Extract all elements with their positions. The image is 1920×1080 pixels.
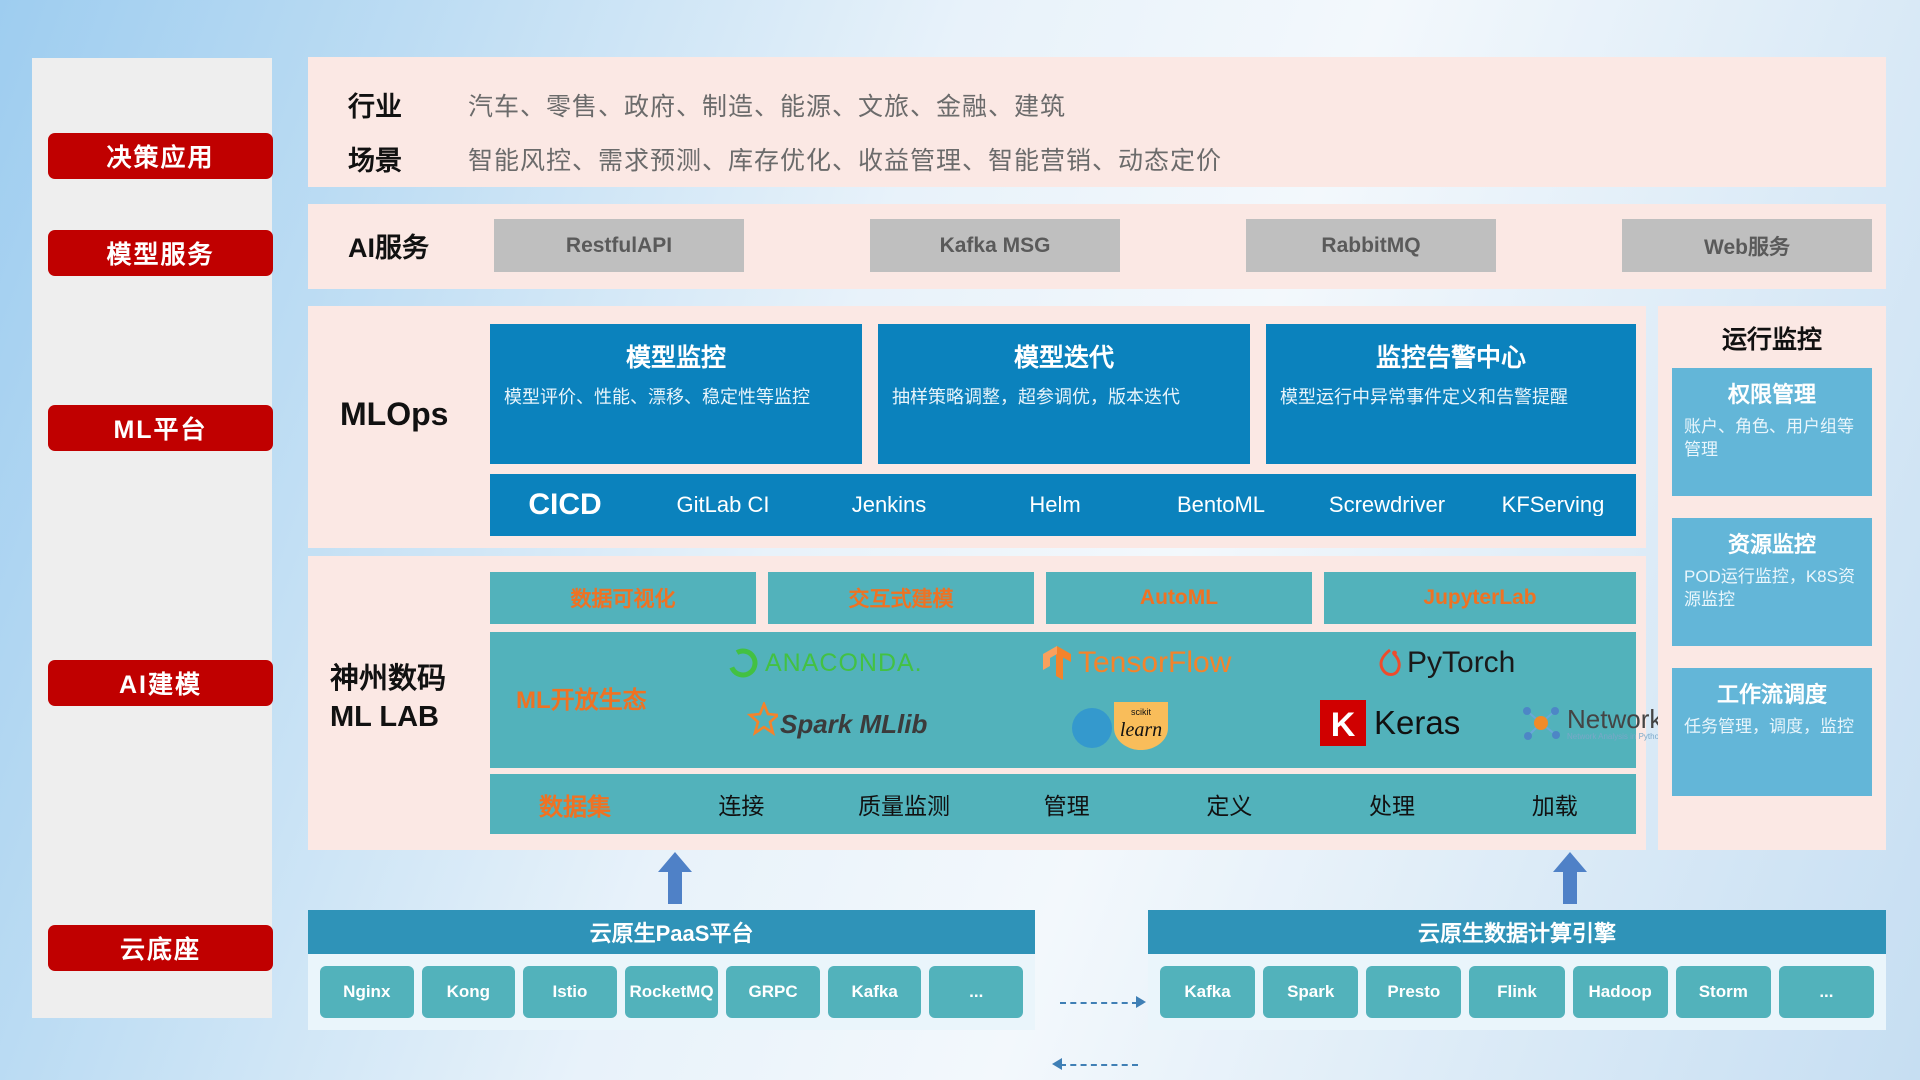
- paas-platform-title: 云原生PaaS平台: [308, 910, 1035, 954]
- spark-mllib-logo: Spark MLlib: [738, 702, 927, 746]
- dataset-item-quality[interactable]: 质量监测: [823, 787, 986, 821]
- layer-pill-ml-platform[interactable]: ML平台: [48, 405, 273, 451]
- layer-pill-model-service[interactable]: 模型服务: [48, 230, 273, 276]
- up-arrow-left-icon: [658, 852, 692, 904]
- ml-lab-tab-interactive[interactable]: 交互式建模: [768, 572, 1034, 624]
- monitor-card-workflow[interactable]: 工作流调度 任务管理，调度，监控: [1672, 668, 1872, 796]
- engine-chip-spark[interactable]: Spark: [1263, 966, 1358, 1018]
- dataset-item-manage[interactable]: 管理: [985, 787, 1148, 821]
- scenario-values: 智能风控、需求预测、库存优化、收益管理、智能营销、动态定价: [468, 141, 1222, 177]
- engine-chip-presto[interactable]: Presto: [1366, 966, 1461, 1018]
- industry-label: 行业: [348, 85, 402, 124]
- dataset-item-load[interactable]: 加载: [1473, 787, 1636, 821]
- mlops-label: MLOps: [340, 396, 448, 433]
- architecture-diagram: 决策应用 模型服务 ML平台 AI建模 云底座 行业 汽车、零售、政府、制造、能…: [0, 0, 1920, 1080]
- up-arrow-right-icon: [1553, 852, 1587, 904]
- monitor-card-desc: 任务管理，调度，监控: [1684, 716, 1860, 739]
- scenario-label: 场景: [348, 139, 402, 178]
- paas-chip-more[interactable]: ...: [929, 966, 1023, 1018]
- paas-chip-rocketmq[interactable]: RocketMQ: [625, 966, 719, 1018]
- cloud-foundation-area: 云原生PaaS平台 Nginx Kong Istio RocketMQ GRPC…: [308, 884, 1886, 1034]
- layer-pill-decision[interactable]: 决策应用: [48, 133, 273, 179]
- tensorflow-logo: TensorFlow: [1040, 644, 1231, 682]
- anaconda-icon: [726, 646, 760, 680]
- keras-label: Keras: [1374, 704, 1460, 742]
- mlops-card-model-monitoring[interactable]: 模型监控 模型评价、性能、漂移、稳定性等监控: [490, 324, 862, 464]
- ml-ecosystem-title: ML开放生态: [516, 680, 647, 715]
- ml-lab-tab-automl[interactable]: AutoML: [1046, 572, 1312, 624]
- mlops-card-desc: 模型评价、性能、漂移、稳定性等监控: [504, 386, 848, 410]
- cicd-item-bentoml[interactable]: BentoML: [1138, 494, 1304, 516]
- mlops-card-title: 模型迭代: [892, 338, 1236, 374]
- connector-right-arrow-icon: [1136, 996, 1146, 1008]
- industry-scenario-panel: 行业 汽车、零售、政府、制造、能源、文旅、金融、建筑 场景 智能风控、需求预测、…: [308, 57, 1886, 187]
- mlops-card-alert-center[interactable]: 监控告警中心 模型运行中异常事件定义和告警提醒: [1266, 324, 1636, 464]
- dataset-label: 数据集: [490, 787, 660, 822]
- ml-lab-label-line1: 神州数码: [330, 663, 446, 695]
- pytorch-icon: [1376, 647, 1404, 679]
- cicd-label: CICD: [490, 488, 640, 522]
- ml-lab-label-line2: ML LAB: [330, 701, 439, 733]
- layer-rail: [32, 58, 272, 1018]
- connector-left-arrow-icon: [1052, 1058, 1062, 1070]
- cicd-row: CICD GitLab CI Jenkins Helm BentoML Scre…: [490, 474, 1636, 536]
- paas-platform-box: 云原生PaaS平台 Nginx Kong Istio RocketMQ GRPC…: [308, 910, 1035, 1030]
- spark-mllib-label: Spark MLlib: [780, 709, 927, 740]
- scikit-learn-logo: scikit learn: [1070, 698, 1180, 750]
- layer-pill-cloud-base[interactable]: 云底座: [48, 925, 273, 971]
- mlops-panel: MLOps 模型监控 模型评价、性能、漂移、稳定性等监控 模型迭代 抽样策略调整…: [308, 306, 1646, 548]
- ai-service-chip-restfulapi[interactable]: RestfulAPI: [494, 219, 744, 272]
- data-engine-chip-list: Kafka Spark Presto Flink Hadoop Storm ..…: [1148, 954, 1886, 1030]
- ml-lab-panel: 神州数码 ML LAB 数据可视化 交互式建模 AutoML JupyterLa…: [308, 556, 1646, 850]
- dataset-item-process[interactable]: 处理: [1311, 787, 1474, 821]
- connector-right-line: [1060, 1002, 1138, 1004]
- ml-lab-tab-jupyterlab[interactable]: JupyterLab: [1324, 572, 1636, 624]
- tensorflow-icon: [1040, 644, 1074, 682]
- paas-chip-istio[interactable]: Istio: [523, 966, 617, 1018]
- paas-chip-list: Nginx Kong Istio RocketMQ GRPC Kafka ...: [308, 954, 1035, 1030]
- cicd-item-screwdriver[interactable]: Screwdriver: [1304, 494, 1470, 516]
- monitor-card-permission[interactable]: 权限管理 账户、角色、用户组等管理: [1672, 368, 1872, 496]
- data-engine-title: 云原生数据计算引擎: [1148, 910, 1886, 954]
- networkx-icon: [1520, 702, 1562, 744]
- data-engine-box: 云原生数据计算引擎 Kafka Spark Presto Flink Hadoo…: [1148, 910, 1886, 1030]
- connector-left-line: [1060, 1064, 1138, 1066]
- svg-text:K: K: [1331, 706, 1356, 744]
- engine-chip-more[interactable]: ...: [1779, 966, 1874, 1018]
- industry-values: 汽车、零售、政府、制造、能源、文旅、金融、建筑: [468, 87, 1066, 123]
- layer-pill-ai-modeling[interactable]: AI建模: [48, 660, 273, 706]
- tensorflow-label: TensorFlow: [1078, 646, 1231, 680]
- keras-icon: K: [1320, 700, 1366, 746]
- runtime-monitor-title: 运行监控: [1658, 320, 1886, 356]
- monitor-card-title: 工作流调度: [1684, 677, 1860, 709]
- engine-chip-kafka[interactable]: Kafka: [1160, 966, 1255, 1018]
- paas-chip-nginx[interactable]: Nginx: [320, 966, 414, 1018]
- runtime-monitor-panel: 运行监控 权限管理 账户、角色、用户组等管理 资源监控 POD运行监控，K8S资…: [1658, 306, 1886, 850]
- monitor-card-desc: 账户、角色、用户组等管理: [1684, 416, 1860, 462]
- cicd-item-kfserving[interactable]: KFServing: [1470, 494, 1636, 516]
- dataset-item-define[interactable]: 定义: [1148, 787, 1311, 821]
- engine-chip-storm[interactable]: Storm: [1676, 966, 1771, 1018]
- spark-icon: [738, 702, 778, 746]
- scikit-learn-icon: scikit learn: [1070, 698, 1180, 750]
- cicd-item-jenkins[interactable]: Jenkins: [806, 494, 972, 516]
- cicd-item-gitlab-ci[interactable]: GitLab CI: [640, 494, 806, 516]
- keras-logo: K Keras: [1320, 700, 1460, 746]
- mlops-card-desc: 模型运行中异常事件定义和告警提醒: [1280, 386, 1622, 410]
- dataset-item-connect[interactable]: 连接: [660, 787, 823, 821]
- pytorch-logo: PyTorch: [1376, 646, 1515, 680]
- anaconda-logo: ANACONDA.: [726, 646, 923, 680]
- ml-lab-tab-data-viz[interactable]: 数据可视化: [490, 572, 756, 624]
- engine-chip-hadoop[interactable]: Hadoop: [1573, 966, 1668, 1018]
- monitor-card-title: 权限管理: [1684, 377, 1860, 409]
- ai-service-chip-kafka-msg[interactable]: Kafka MSG: [870, 219, 1120, 272]
- mlops-card-title: 模型监控: [504, 338, 848, 374]
- mlops-card-model-iteration[interactable]: 模型迭代 抽样策略调整，超参调优，版本迭代: [878, 324, 1250, 464]
- ai-service-chip-rabbitmq[interactable]: RabbitMQ: [1246, 219, 1496, 272]
- dataset-row: 数据集 连接 质量监测 管理 定义 处理 加载: [490, 774, 1636, 834]
- paas-chip-kong[interactable]: Kong: [422, 966, 516, 1018]
- monitor-card-desc: POD运行监控，K8S资源监控: [1684, 566, 1860, 612]
- networkx-logo: NetworkX Network Analysis in Python: [1520, 702, 1680, 744]
- ml-ecosystem-band: ML开放生态 ANACONDA. TensorFlow: [490, 632, 1636, 768]
- ai-service-label: AI服务: [348, 226, 429, 265]
- cicd-item-helm[interactable]: Helm: [972, 494, 1138, 516]
- paas-chip-grpc[interactable]: GRPC: [726, 966, 820, 1018]
- anaconda-label: ANACONDA.: [765, 649, 923, 678]
- engine-chip-flink[interactable]: Flink: [1469, 966, 1564, 1018]
- svg-text:learn: learn: [1120, 719, 1162, 741]
- ai-service-chip-web-service[interactable]: Web服务: [1622, 219, 1872, 272]
- paas-chip-kafka[interactable]: Kafka: [828, 966, 922, 1018]
- svg-text:scikit: scikit: [1131, 707, 1151, 717]
- ai-service-panel: AI服务 RestfulAPI Kafka MSG RabbitMQ Web服务: [308, 204, 1886, 289]
- pytorch-label: PyTorch: [1407, 646, 1515, 680]
- monitor-card-resource[interactable]: 资源监控 POD运行监控，K8S资源监控: [1672, 518, 1872, 646]
- monitor-card-title: 资源监控: [1684, 527, 1860, 559]
- ml-lab-label: 神州数码 ML LAB: [330, 661, 446, 736]
- mlops-card-title: 监控告警中心: [1280, 338, 1622, 374]
- mlops-card-desc: 抽样策略调整，超参调优，版本迭代: [892, 386, 1236, 410]
